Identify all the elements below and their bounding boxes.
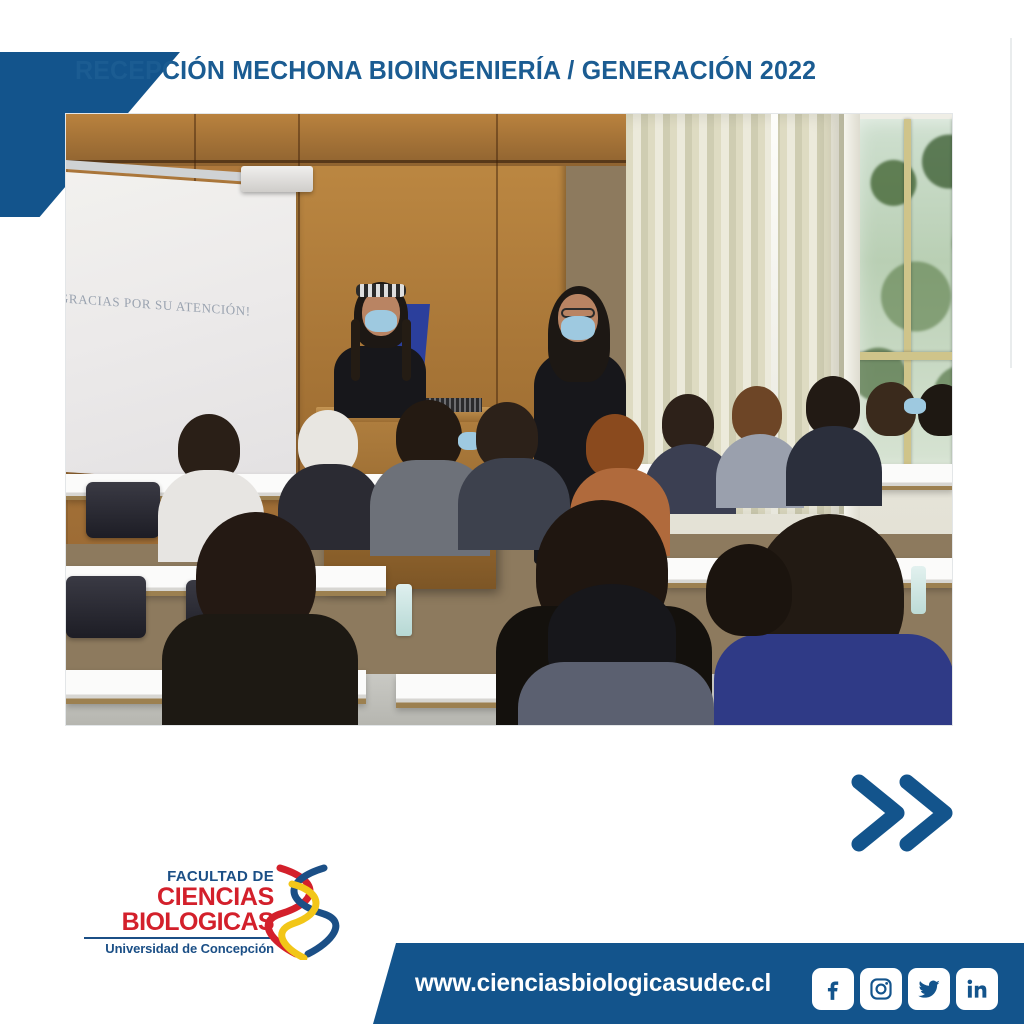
right-edge-hairline (1010, 38, 1012, 368)
logo-divider (84, 937, 274, 939)
lecture-hall-photo: ¡GRACIAS POR SU ATENCIÓN! (65, 113, 953, 726)
chair (86, 482, 160, 538)
presenter-two-mask (561, 316, 595, 340)
instagram-icon[interactable] (860, 968, 902, 1010)
audience-shoulders (786, 426, 882, 506)
linkedin-icon[interactable] (956, 968, 998, 1010)
chair (66, 576, 146, 638)
double-chevron-icon (845, 768, 965, 858)
page-title: RECEPCIÓN MECHONA BIOINGENIERÍA / GENERA… (75, 55, 881, 86)
audience-mask (904, 398, 926, 414)
presenter-one-braid (402, 319, 411, 381)
window-mullion (952, 119, 953, 474)
website-url[interactable]: www.cienciasbiologicasudec.cl (415, 969, 771, 998)
water-bottle (396, 584, 412, 636)
ceiling-seam (66, 160, 626, 163)
presenter-one-headband (356, 284, 406, 297)
audience-shoulders (714, 634, 953, 726)
presenter-one-mask (365, 310, 397, 332)
presenter-one-braid (351, 319, 360, 381)
facebook-icon[interactable] (812, 968, 854, 1010)
audience-shoulders (162, 614, 358, 726)
audience-shoulders (518, 662, 714, 726)
water-bottle (911, 566, 926, 614)
window-mullion (856, 352, 953, 360)
logo-line-ciencias: CIENCIAS (84, 885, 274, 910)
twitter-icon[interactable] (908, 968, 950, 1010)
social-links (812, 968, 998, 1010)
wall-mounted-box (241, 166, 313, 192)
ceiling-strip (66, 114, 626, 166)
logo-line-biologicas: BIOLOGICAS (84, 910, 274, 935)
audience-head (706, 544, 792, 636)
